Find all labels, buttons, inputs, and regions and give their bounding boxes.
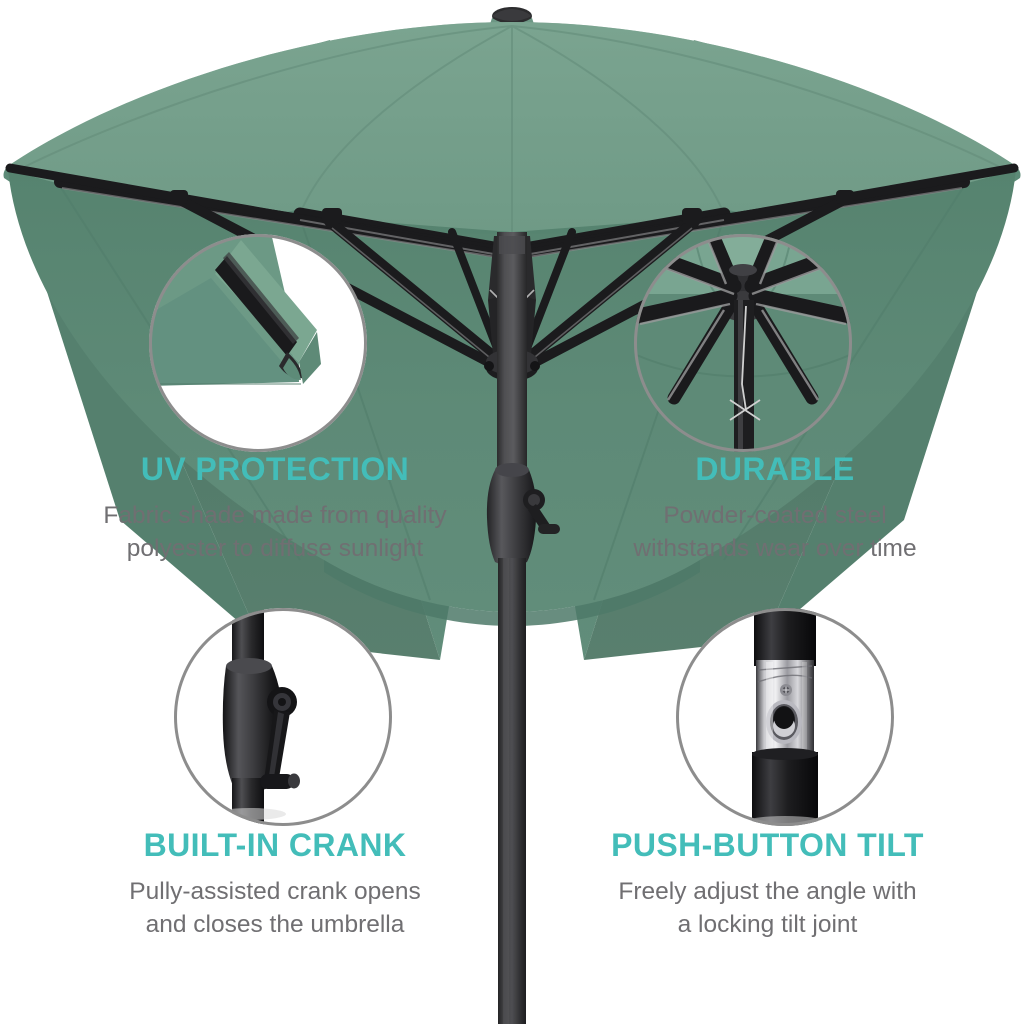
callout-image-canopy-fabric	[149, 234, 367, 452]
callout-image-hub-ribs	[634, 234, 852, 452]
callout-circle-uv-protection	[149, 234, 367, 452]
feature-block-built-in-crank: BUILT-IN CRANK Pully-assisted crank open…	[20, 828, 530, 941]
callout-circle-push-button-tilt	[676, 608, 894, 826]
infographic-canvas: UV PROTECTION Fabric shade made from qua…	[0, 0, 1024, 1024]
feature-block-uv-protection: UV PROTECTION Fabric shade made from qua…	[20, 452, 530, 565]
feature-description: Powder-coated steel withstands wear over…	[540, 500, 1010, 565]
feature-block-durable: DURABLE Powder-coated steel withstands w…	[540, 452, 1010, 565]
feature-description: Freely adjust the angle with a locking t…	[520, 876, 1015, 941]
feature-block-push-button-tilt: PUSH-BUTTON TILT Freely adjust the angle…	[520, 828, 1015, 941]
callout-circle-durable	[634, 234, 852, 452]
callout-image-tilt-joint	[676, 608, 894, 826]
feature-title: DURABLE	[540, 452, 1010, 487]
callout-image-crank-handle	[174, 608, 392, 826]
feature-title: PUSH-BUTTON TILT	[520, 828, 1015, 863]
feature-title: UV PROTECTION	[20, 452, 530, 487]
feature-description: Pully-assisted crank opens and closes th…	[20, 876, 530, 941]
feature-title: BUILT-IN CRANK	[20, 828, 530, 863]
feature-description: Fabric shade made from quality polyester…	[20, 500, 530, 565]
callout-circle-built-in-crank	[174, 608, 392, 826]
